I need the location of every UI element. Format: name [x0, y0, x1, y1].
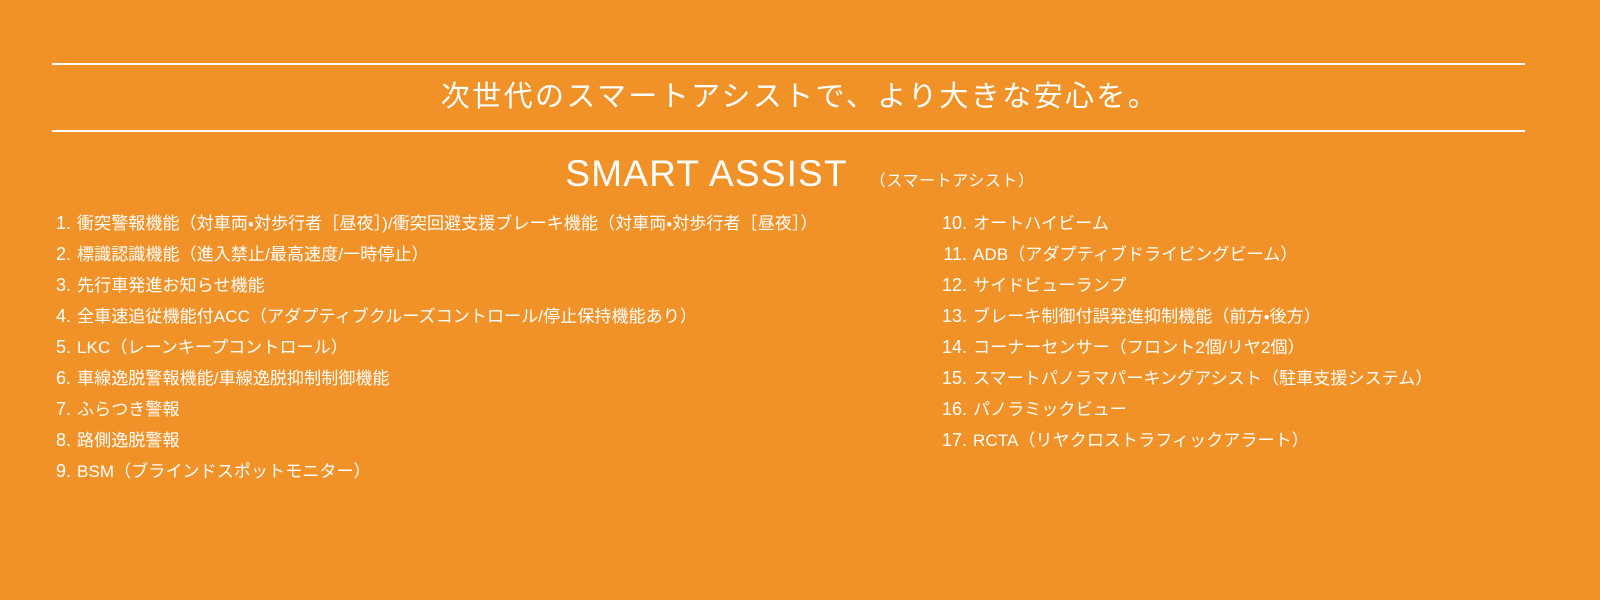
headline: 次世代のスマートアシストで、より大きな安心を。 [0, 77, 1600, 117]
feature-item: 14. コーナーセンサー（フロント2個/リヤ2個） [940, 332, 1560, 363]
feature-number: 9. [52, 456, 71, 487]
feature-number: 11. [940, 239, 967, 270]
feature-number: 6. [52, 363, 71, 394]
feature-label: LKC（レーンキープコントロール） [77, 332, 348, 363]
feature-number: 10. [940, 208, 967, 239]
feature-list-left: 1. 衝突警報機能（対車両・対歩行者［昼夜］)/衝突回避支援ブレーキ機能（対車両… [52, 208, 932, 487]
feature-item: 6. 車線逸脱警報機能/車線逸脱抑制制御機能 [52, 363, 932, 394]
feature-label: 路側逸脱警報 [77, 425, 180, 456]
feature-item: 15. スマートパノラマパーキングアシスト（駐車支援システム） [940, 363, 1560, 394]
feature-item: 7. ふらつき警報 [52, 394, 932, 425]
feature-number: 15. [940, 363, 967, 394]
feature-number: 14. [940, 332, 967, 363]
feature-item: 9. BSM（ブラインドスポットモニター） [52, 456, 932, 487]
feature-number: 8. [52, 425, 71, 456]
title-block: SMART ASSIST（スマートアシスト） [0, 152, 1600, 204]
feature-columns: 1. 衝突警報機能（対車両・対歩行者［昼夜］)/衝突回避支援ブレーキ機能（対車両… [0, 208, 1600, 508]
feature-label: 車線逸脱警報機能/車線逸脱抑制制御機能 [77, 363, 390, 394]
feature-label: RCTA（リヤクロストラフィックアラート） [973, 425, 1309, 456]
feature-label: 衝突警報機能（対車両・対歩行者［昼夜］)/衝突回避支援ブレーキ機能（対車両・対歩… [77, 208, 818, 239]
feature-label: コーナーセンサー（フロント2個/リヤ2個） [973, 332, 1305, 363]
feature-item: 16. パノラミックビュー [940, 394, 1560, 425]
feature-list-right: 10. オートハイビーム 11. ADB（アダプティブドライビングビーム） 12… [940, 208, 1560, 456]
feature-number: 16. [940, 394, 967, 425]
feature-number: 3. [52, 270, 71, 301]
feature-item: 12. サイドビューランプ [940, 270, 1560, 301]
feature-item: 3. 先行車発進お知らせ機能 [52, 270, 932, 301]
feature-label: ADB（アダプティブドライビングビーム） [973, 239, 1297, 270]
feature-number: 12. [940, 270, 967, 301]
feature-label: ブレーキ制御付誤発進抑制機能（前方・後方） [973, 301, 1321, 332]
feature-number: 17. [940, 425, 967, 456]
feature-item: 4. 全車速追従機能付ACC（アダプティブクルーズコントロール/停止保持機能あり… [52, 301, 932, 332]
divider-bottom [52, 130, 1525, 132]
feature-label: 全車速追従機能付ACC（アダプティブクルーズコントロール/停止保持機能あり） [77, 301, 697, 332]
feature-label: サイドビューランプ [973, 270, 1126, 301]
feature-label: 標識認識機能（進入禁止/最高速度/一時停止） [77, 239, 429, 270]
feature-label: 先行車発進お知らせ機能 [77, 270, 265, 301]
feature-number: 2. [52, 239, 71, 270]
feature-item: 13. ブレーキ制御付誤発進抑制機能（前方・後方） [940, 301, 1560, 332]
feature-item: 2. 標識認識機能（進入禁止/最高速度/一時停止） [52, 239, 932, 270]
feature-item: 17. RCTA（リヤクロストラフィックアラート） [940, 425, 1560, 456]
feature-label: オートハイビーム [973, 208, 1109, 239]
feature-number: 7. [52, 394, 71, 425]
feature-number: 13. [940, 301, 967, 332]
page-title: SMART ASSIST [565, 153, 847, 194]
feature-item: 5. LKC（レーンキープコントロール） [52, 332, 932, 363]
feature-item: 8. 路側逸脱警報 [52, 425, 932, 456]
feature-item: 11. ADB（アダプティブドライビングビーム） [940, 239, 1560, 270]
divider-top [52, 63, 1525, 65]
feature-label: パノラミックビュー [973, 394, 1127, 425]
feature-label: BSM（ブラインドスポットモニター） [77, 456, 371, 487]
feature-label: スマートパノラマパーキングアシスト（駐車支援システム） [973, 363, 1433, 394]
feature-item: 1. 衝突警報機能（対車両・対歩行者［昼夜］)/衝突回避支援ブレーキ機能（対車両… [52, 208, 932, 239]
page-title-subtitle: （スマートアシスト） [870, 173, 1035, 190]
feature-number: 1. [52, 208, 71, 239]
feature-number: 4. [52, 301, 71, 332]
smart-assist-poster: 次世代のスマートアシストで、より大きな安心を。 SMART ASSIST（スマー… [0, 0, 1600, 600]
feature-item: 10. オートハイビーム [940, 208, 1560, 239]
feature-number: 5. [52, 332, 71, 363]
feature-label: ふらつき警報 [77, 394, 180, 425]
